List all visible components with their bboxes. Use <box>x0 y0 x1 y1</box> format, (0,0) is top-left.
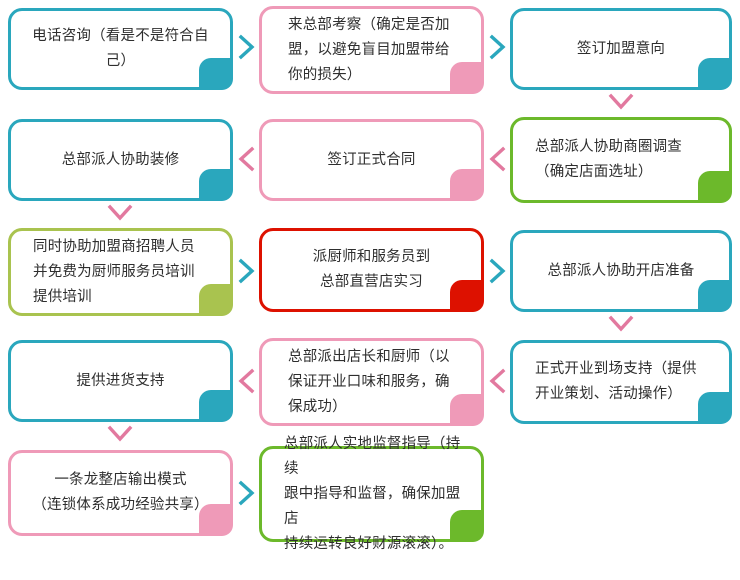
connector-arrow-down <box>107 425 133 443</box>
flow-node-label: 总部派人协助商圈调查 （确定店面选址） <box>513 135 729 185</box>
flow-node-n1[interactable]: 电话咨询（看是不是符合自己） <box>8 8 233 90</box>
connector-arrow-left <box>238 368 256 394</box>
flow-node-label: 签订正式合同 <box>262 148 481 173</box>
corner-tab-icon <box>199 390 233 422</box>
connector-arrow-left <box>489 146 507 172</box>
connector-arrow-right <box>489 34 507 60</box>
flow-node-label: 正式开业到场支持（提供 开业策划、活动操作） <box>513 357 729 407</box>
corner-tab-icon <box>698 58 732 90</box>
connector-arrow-right <box>238 480 256 506</box>
flow-node-n13[interactable]: 一条龙整店输出模式 （连锁体系成功经验共享） <box>8 450 233 536</box>
connector-arrow-down <box>608 315 634 333</box>
connector-arrow-right <box>238 258 256 284</box>
connector-arrow-down <box>107 204 133 222</box>
corner-tab-icon <box>450 169 484 201</box>
flow-node-n14[interactable]: 总部派人实地监督指导（持续 跟中指导和监督，确保加盟店 持续运转良好财源滚滚）。 <box>259 446 484 542</box>
connector-arrow-right <box>489 258 507 284</box>
connector-arrow-left <box>238 146 256 172</box>
flow-node-n10[interactable]: 提供进货支持 <box>8 340 233 422</box>
flow-node-label: 总部派人协助开店准备 <box>513 259 729 284</box>
flow-node-label: 总部派人实地监督指导（持续 跟中指导和监督，确保加盟店 持续运转良好财源滚滚）。 <box>262 432 481 557</box>
flow-node-n9[interactable]: 总部派人协助开店准备 <box>510 230 732 312</box>
flow-node-n12[interactable]: 正式开业到场支持（提供 开业策划、活动操作） <box>510 340 732 424</box>
connector-arrow-left <box>489 368 507 394</box>
flow-node-n7[interactable]: 同时协助加盟商招聘人员 并免费为厨师服务员培训 提供培训 <box>8 228 233 316</box>
connector-arrow-right <box>238 34 256 60</box>
flow-node-n8[interactable]: 派厨师和服务员到 总部直营店实习 <box>259 228 484 312</box>
flow-node-label: 签订加盟意向 <box>513 37 729 62</box>
flowchart-canvas: 电话咨询（看是不是符合自己） 来总部考察（确定是否加 盟，以避免盲目加盟带给 你… <box>0 0 740 580</box>
flow-node-n11[interactable]: 总部派出店长和厨师（以 保证开业口味和服务，确 保成功） <box>259 338 484 426</box>
flow-node-label: 总部派出店长和厨师（以 保证开业口味和服务，确 保成功） <box>262 345 481 420</box>
flow-node-n2[interactable]: 来总部考察（确定是否加 盟，以避免盲目加盟带给 你的损失） <box>259 6 484 94</box>
flow-node-label: 电话咨询（看是不是符合自己） <box>11 24 230 74</box>
flow-node-n5[interactable]: 签订正式合同 <box>259 119 484 201</box>
connector-arrow-down <box>608 93 634 111</box>
corner-tab-icon <box>698 280 732 312</box>
flow-node-label: 同时协助加盟商招聘人员 并免费为厨师服务员培训 提供培训 <box>11 235 230 310</box>
flow-node-label: 一条龙整店输出模式 （连锁体系成功经验共享） <box>11 468 230 518</box>
flow-node-n4[interactable]: 总部派人协助装修 <box>8 119 233 201</box>
flow-node-n6[interactable]: 总部派人协助商圈调查 （确定店面选址） <box>510 117 732 203</box>
flow-node-label: 派厨师和服务员到 总部直营店实习 <box>262 245 481 295</box>
flow-node-n3[interactable]: 签订加盟意向 <box>510 8 732 90</box>
flow-node-label: 来总部考察（确定是否加 盟，以避免盲目加盟带给 你的损失） <box>262 13 481 88</box>
flow-node-label: 总部派人协助装修 <box>11 148 230 173</box>
flow-node-label: 提供进货支持 <box>11 369 230 394</box>
corner-tab-icon <box>199 169 233 201</box>
